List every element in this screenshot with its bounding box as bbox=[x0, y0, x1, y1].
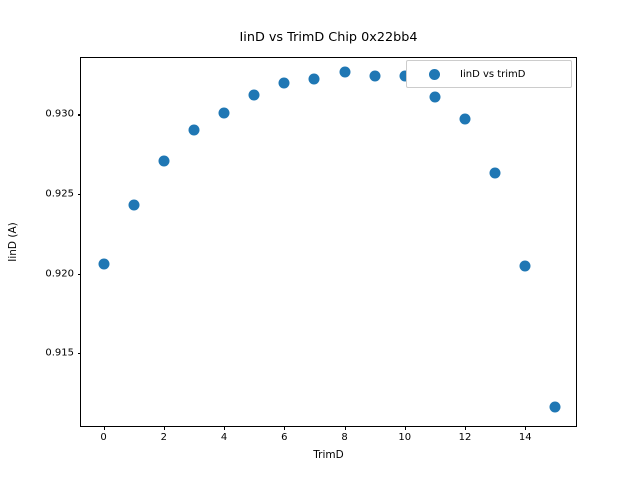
x-tick-label: 6 bbox=[281, 432, 287, 443]
scatter-series-iind-vs-trimd bbox=[81, 58, 576, 426]
y-tick-label: 0.925 bbox=[45, 189, 74, 200]
x-tick-mark bbox=[164, 426, 165, 430]
data-point bbox=[550, 402, 561, 413]
x-tick-label: 8 bbox=[341, 432, 347, 443]
x-tick-label: 10 bbox=[398, 432, 411, 443]
data-point bbox=[460, 114, 471, 125]
data-point bbox=[279, 77, 290, 88]
plot-area: 0.9150.9200.9250.930 02468101214 bbox=[80, 57, 577, 427]
data-point bbox=[98, 259, 109, 270]
data-point bbox=[158, 155, 169, 166]
y-tick-mark bbox=[78, 274, 82, 275]
y-tick-label: 0.930 bbox=[45, 109, 74, 120]
x-tick-mark bbox=[104, 426, 105, 430]
x-tick-mark bbox=[465, 426, 466, 430]
data-point bbox=[520, 260, 531, 271]
legend: IinD vs trimD bbox=[406, 60, 572, 88]
x-tick-label: 14 bbox=[519, 432, 532, 443]
y-axis-label: IinD (A) bbox=[7, 222, 19, 261]
y-tick-label: 0.920 bbox=[45, 268, 74, 279]
y-tick-mark bbox=[78, 353, 82, 354]
x-tick-label: 4 bbox=[221, 432, 227, 443]
data-point bbox=[369, 71, 380, 82]
data-point bbox=[490, 168, 501, 179]
x-tick-mark bbox=[284, 426, 285, 430]
x-tick-label: 0 bbox=[100, 432, 106, 443]
x-axis-label: TrimD bbox=[80, 449, 577, 461]
chart-title: IinD vs TrimD Chip 0x22bb4 bbox=[80, 30, 577, 45]
x-tick-label: 12 bbox=[459, 432, 472, 443]
x-tick-mark bbox=[224, 426, 225, 430]
data-point bbox=[188, 125, 199, 136]
legend-entry-label: IinD vs trimD bbox=[460, 69, 526, 80]
figure-canvas: IinD vs TrimD Chip 0x22bb4 0.9150.9200.9… bbox=[0, 0, 640, 480]
x-tick-mark bbox=[405, 426, 406, 430]
y-tick-mark bbox=[78, 114, 82, 115]
data-point bbox=[128, 200, 139, 211]
data-point bbox=[339, 66, 350, 77]
x-tick-mark bbox=[345, 426, 346, 430]
data-point bbox=[219, 107, 230, 118]
x-tick-mark bbox=[525, 426, 526, 430]
data-point bbox=[309, 74, 320, 85]
legend-marker-icon bbox=[429, 69, 440, 80]
data-point bbox=[249, 90, 260, 101]
x-tick-label: 2 bbox=[161, 432, 167, 443]
y-tick-mark bbox=[78, 194, 82, 195]
y-tick-label: 0.915 bbox=[45, 348, 74, 359]
data-point bbox=[429, 91, 440, 102]
